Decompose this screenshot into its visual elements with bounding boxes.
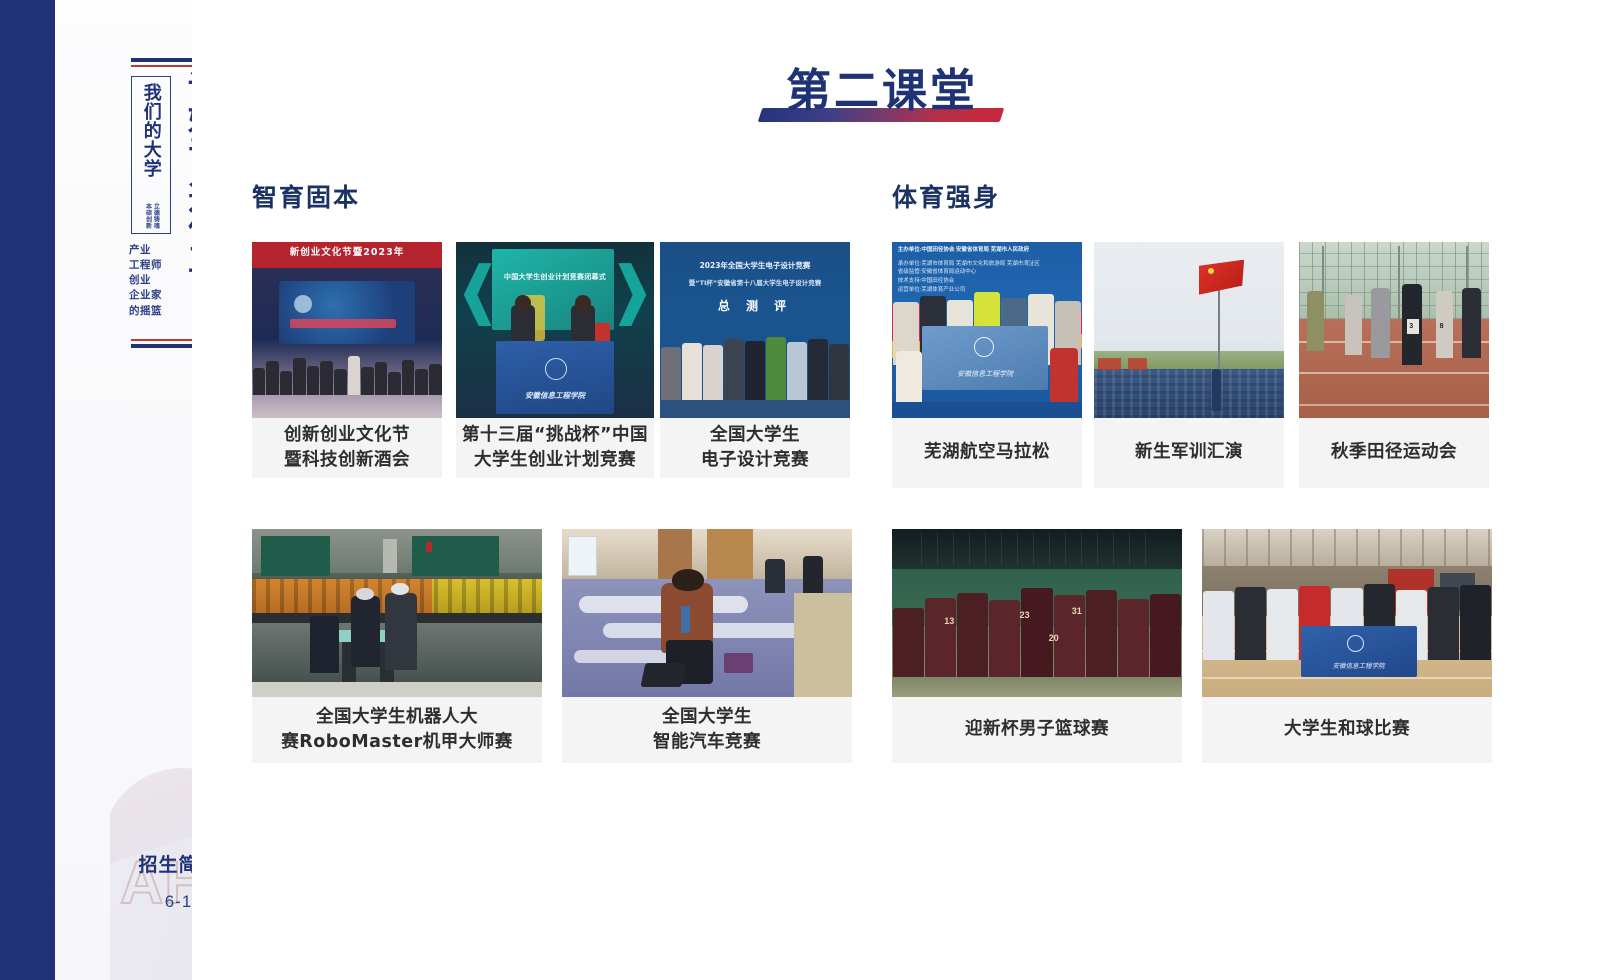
photo-track-sprint: 3 8 <box>1299 242 1489 418</box>
logo-rule-top-thin <box>131 65 192 67</box>
photo-marathon-team-with-flag: 主办单位:中国田径协会 安徽省体育局 芜湖市人民政府 承办单位:芜湖市体育局 芜… <box>892 242 1082 418</box>
card-caption: 芜湖航空马拉松 <box>892 418 1082 488</box>
photo-military-parade <box>1094 242 1284 418</box>
card-caption: 秋季田径运动会 <box>1299 418 1489 488</box>
logo-char-gong: 工 <box>178 245 192 276</box>
photo-banner-text: 2023年全国大学生电子设计竞赛 <box>660 260 850 271</box>
caption-line-2: 大学生创业计划竞赛 <box>462 448 648 473</box>
photo-banner-text: 主办单位:中国田径协会 安徽省体育局 芜湖市人民政府 <box>898 246 1079 255</box>
caption-line-2: 智能汽车竞赛 <box>653 730 761 755</box>
university-slogan-logo: 我们的大学 立德铸魂 本硕创新 产业 工程师 创业 企业家 的摇篮 读 好 书 <box>117 58 192 348</box>
photo-graduation-ceremony-stage: 新创业文化节暨2023年 <box>252 242 442 418</box>
logo-char-shu: 书 <box>178 134 192 165</box>
logo-boxed-subtext: 立德铸魂 本硕创新 <box>144 203 159 229</box>
photo-banner-text: 新创业文化节暨2023年 <box>252 244 442 258</box>
card-basketball[interactable]: 13 23 31 20 迎新杯男子篮球赛 <box>892 529 1182 763</box>
photo-robomaster-workbench <box>252 529 542 697</box>
logo-rule-top-thick <box>131 58 192 62</box>
left-side-panel: 我们的大学 立德铸魂 本硕创新 产业 工程师 创业 企业家 的摇篮 读 好 书 <box>55 0 192 980</box>
caption-line-1: 创新创业文化节 <box>284 423 410 448</box>
caption-line-1: 新生军训汇演 <box>1135 440 1243 465</box>
logo-boxed-text-frame: 我们的大学 立德铸魂 本硕创新 <box>131 76 171 234</box>
caption-line-1: 全国大学生 <box>701 423 809 448</box>
card-caption: 全国大学生机器人大 赛RoboMaster机甲大师赛 <box>252 697 542 763</box>
slide-page: 我们的大学 立德铸魂 本硕创新 产业 工程师 创业 企业家 的摇篮 读 好 书 <box>0 0 1600 980</box>
card-caption: 全国大学生 智能汽车竞赛 <box>562 697 852 763</box>
page-title-block: 第二课堂 <box>752 68 1012 134</box>
logo-main-slogan: 读 好 书 选 信 工 <box>178 72 192 334</box>
caption-line-1: 迎新杯男子篮球赛 <box>965 717 1109 742</box>
card-military-training[interactable]: 新生军训汇演 <box>1094 242 1284 488</box>
logo-sub-item-4: 的摇篮 <box>129 305 175 318</box>
caption-line-1: 全国大学生机器人大 <box>281 705 513 730</box>
logo-boxed-subtext-1: 立德铸魂 <box>152 203 159 229</box>
page-title: 第二课堂 <box>752 68 1012 113</box>
logo-boxed-subtext-2: 本硕创新 <box>144 203 151 229</box>
logo-rule-bottom-thin <box>131 339 192 341</box>
card-caption: 大学生和球比赛 <box>1202 697 1492 763</box>
card-caption: 第十三届“挑战杯”中国 大学生创业计划竞赛 <box>456 418 654 478</box>
logo-sub-item-0: 产业 <box>129 244 175 257</box>
card-caption: 迎新杯男子篮球赛 <box>892 697 1182 763</box>
caption-line-2: 电子设计竞赛 <box>701 448 809 473</box>
caption-line-1: 芜湖航空马拉松 <box>924 440 1050 465</box>
main-content: 第二课堂 智育固本 体育强身 新创业文化节暨2023年 <box>192 0 1600 980</box>
logo-rule-bottom-thick <box>131 344 192 348</box>
caption-line-2: 暨科技创新酒会 <box>284 448 410 473</box>
section-heading-zhiyu: 智育固本 <box>252 178 360 214</box>
footer-title: 招生简章 <box>110 850 192 877</box>
photo-group-before-blue-backdrop: 2023年全国大学生电子设计竞赛 暨“TI杯”安徽省第十八届大学生电子设计竞赛 … <box>660 242 850 418</box>
left-blue-rail <box>0 0 55 980</box>
logo-sub-item-2: 创业 <box>129 274 175 287</box>
card-caption: 新生军训汇演 <box>1094 418 1284 488</box>
logo-boxed-text: 我们的大学 <box>141 83 160 178</box>
logo-sub-item-1: 工程师 <box>129 259 175 272</box>
caption-line-1: 大学生和球比赛 <box>1284 717 1410 742</box>
caption-line-2: 赛RoboMaster机甲大师赛 <box>281 730 513 755</box>
card-wuhu-marathon[interactable]: 主办单位:中国田径协会 安徽省体育局 芜湖市人民政府 承办单位:芜湖市体育局 芜… <box>892 242 1082 488</box>
caption-line-1: 第十三届“挑战杯”中国 <box>462 423 648 448</box>
card-challenge-cup[interactable]: 中国大学生创业计划竞赛闭幕式 安徽信息工程学院 第十三届“挑战杯”中国 大学生创… <box>456 242 654 478</box>
photo-indoor-gym-team-with-banner: 安徽信息工程学院 <box>1202 529 1492 697</box>
card-track-and-field[interactable]: 3 8 秋季田径运动会 <box>1299 242 1489 488</box>
section-heading-tiyu: 体育强身 <box>892 178 1000 214</box>
card-student-ball-match[interactable]: 安徽信息工程学院 大学生和球比赛 <box>1202 529 1492 763</box>
photo-basketball-team: 13 23 31 20 <box>892 529 1182 697</box>
photo-students-with-blue-banner: 中国大学生创业计划竞赛闭幕式 安徽信息工程学院 <box>456 242 654 418</box>
caption-line-1: 全国大学生 <box>653 705 761 730</box>
card-innovation-festival[interactable]: 新创业文化节暨2023年 创新创业文化节 暨科技创新 <box>252 242 442 478</box>
card-electronic-design[interactable]: 2023年全国大学生电子设计竞赛 暨“TI杯”安徽省第十八届大学生电子设计竞赛 … <box>660 242 850 478</box>
sidebar-footer: AHIT 招生简章 6-1 <box>110 750 192 980</box>
caption-line-1: 秋季田径运动会 <box>1331 440 1457 465</box>
card-robomaster[interactable]: 全国大学生机器人大 赛RoboMaster机甲大师赛 <box>252 529 542 763</box>
footer-page-number: 6-1 <box>110 892 192 912</box>
card-caption: 创新创业文化节 暨科技创新酒会 <box>252 418 442 478</box>
card-caption: 全国大学生 电子设计竞赛 <box>660 418 850 478</box>
logo-sub-item-3: 企业家 <box>129 289 175 302</box>
logo-sub-list: 产业 工程师 创业 企业家 的摇篮 <box>129 244 175 318</box>
photo-smart-car-track <box>562 529 852 697</box>
card-smart-car[interactable]: 全国大学生 智能汽车竞赛 <box>562 529 852 763</box>
